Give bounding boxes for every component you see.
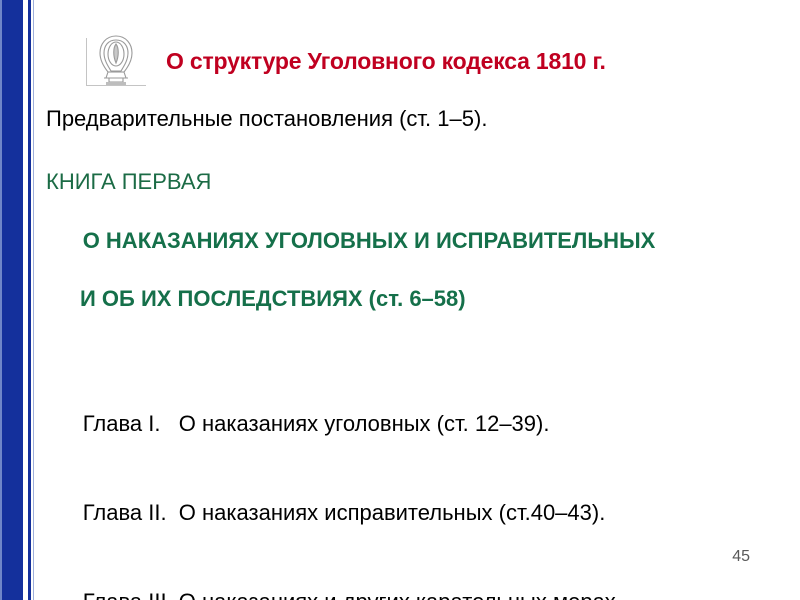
spacer	[46, 133, 746, 167]
book-title-line-1: О НАКАЗАНИЯХ УГОЛОВНЫХ И ИСПРАВИТЕЛЬНЫХ	[83, 228, 656, 253]
chapter-line-1: Глава II. О наказаниях исправительных (с…	[83, 500, 606, 525]
title-row: О структуре Уголовного кодекса 1810 г.	[84, 30, 774, 92]
page-title: О структуре Уголовного кодекса 1810 г.	[166, 48, 606, 75]
institution-emblem-icon	[84, 30, 148, 92]
chapter-line-1: Глава I. О наказаниях уголовных (ст. 12–…	[83, 411, 550, 436]
sidebar-thin-bar	[28, 0, 31, 600]
sidebar-hairline	[33, 0, 34, 600]
book-title: О НАКАЗАНИЯХ УГОЛОВНЫХ И ИСПРАВИТЕЛЬНЫХ …	[46, 196, 746, 373]
slide-canvas: О структуре Уголовного кодекса 1810 г. П…	[0, 0, 800, 600]
book-label: КНИГА ПЕРВАЯ	[46, 167, 746, 196]
page-number: 45	[732, 548, 750, 566]
chapter-line-1: Глава III. О наказаниях и других карател…	[83, 589, 622, 600]
chapter-item-1: Глава I. О наказаниях уголовных (ст. 12–…	[46, 379, 746, 468]
chapter-item-2: Глава II. О наказаниях исправительных (с…	[46, 468, 746, 557]
intro-paragraph: Предварительные постановления (ст. 1–5).	[46, 104, 746, 133]
chapter-item-3: Глава III. О наказаниях и других карател…	[46, 557, 746, 600]
slide-body: Предварительные постановления (ст. 1–5).…	[46, 104, 746, 600]
sidebar-accent-bar	[2, 0, 23, 600]
book-title-line-2: И ОБ ИХ ПОСЛЕДСТВИЯХ (ст. 6–58)	[46, 284, 746, 313]
